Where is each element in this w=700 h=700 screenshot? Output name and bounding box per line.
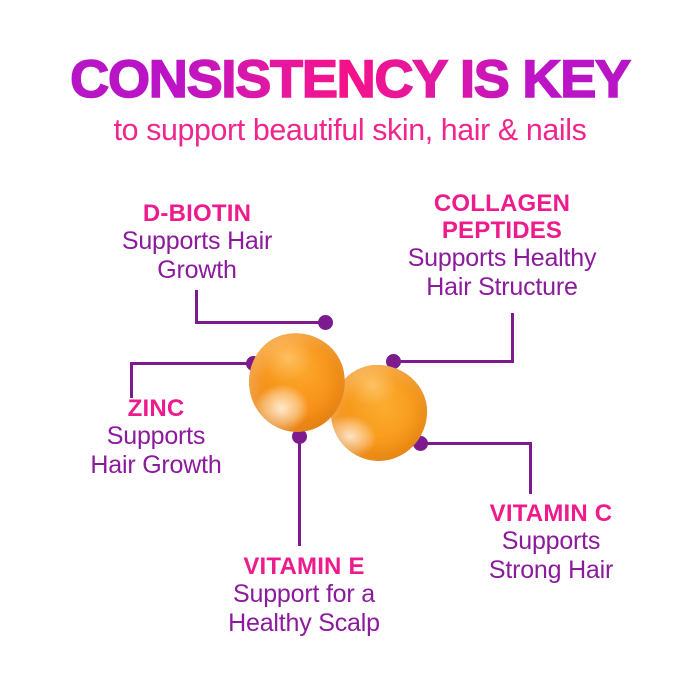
- connector-d-biotin-vertical: [195, 290, 198, 324]
- callout-d-biotin-heading: D-BIOTIN: [72, 200, 322, 227]
- infographic-canvas: CONSISTENCY IS KEY to support beautiful …: [0, 0, 700, 700]
- callout-zinc: ZINC Supports Hair Growth: [38, 395, 274, 480]
- callout-d-biotin-body-line2: Growth: [72, 256, 322, 285]
- connector-zinc-vertical: [130, 362, 133, 398]
- connector-d-biotin-horizontal: [195, 321, 325, 324]
- callout-vitamin-c-body-line2: Strong Hair: [432, 556, 670, 585]
- callout-vitamin-c: VITAMIN C Supports Strong Hair: [432, 500, 670, 585]
- connector-collagen-vertical: [511, 313, 514, 363]
- callout-vitamin-c-body-line1: Supports: [432, 527, 670, 556]
- connector-dot-d-biotin: [318, 315, 333, 330]
- callout-collagen-body-line1: Supports Healthy: [368, 244, 636, 273]
- callout-zinc-body-line1: Supports: [38, 422, 274, 451]
- callout-d-biotin: D-BIOTIN Supports Hair Growth: [72, 200, 322, 285]
- callout-collagen-body-line2: Hair Structure: [368, 273, 636, 302]
- connector-vitamin-c-vertical: [529, 442, 532, 494]
- callout-collagen-heading-line1: COLLAGEN: [368, 190, 636, 217]
- callout-collagen-peptides: COLLAGEN PEPTIDES Supports Healthy Hair …: [368, 190, 636, 302]
- callout-d-biotin-body-line1: Supports Hair: [72, 227, 322, 256]
- callout-zinc-body-line2: Hair Growth: [38, 451, 274, 480]
- callout-vitamin-c-heading: VITAMIN C: [432, 500, 670, 527]
- page-title: CONSISTENCY IS KEY: [0, 52, 700, 108]
- callout-vitamin-e-heading: VITAMIN E: [178, 553, 430, 580]
- page-subtitle: to support beautiful skin, hair & nails: [7, 112, 693, 148]
- callout-vitamin-e-body-line1: Support for a: [178, 580, 430, 609]
- callout-vitamin-e-body-line2: Healthy Scalp: [178, 609, 430, 638]
- connector-vitamin-c-horizontal: [420, 442, 532, 445]
- callout-vitamin-e: VITAMIN E Support for a Healthy Scalp: [178, 553, 430, 638]
- callout-collagen-heading-line2: PEPTIDES: [368, 217, 636, 244]
- callout-zinc-heading: ZINC: [38, 395, 274, 422]
- connector-zinc-horizontal: [130, 362, 255, 365]
